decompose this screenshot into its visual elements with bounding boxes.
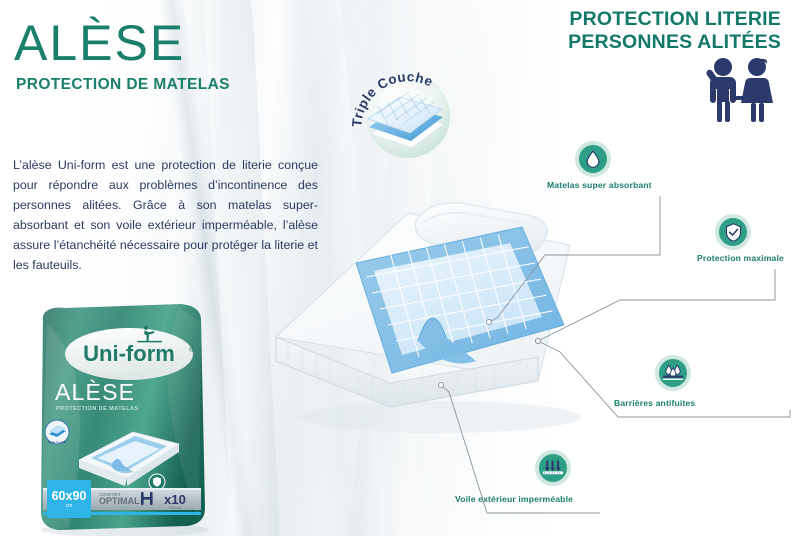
package-comfort: OPTIMAL bbox=[99, 496, 140, 506]
headline-block: PROTECTION LITERIE PERSONNES ALITÉES bbox=[568, 8, 781, 54]
triple-couche-badge: Triple Couche bbox=[352, 64, 464, 164]
headline-line-1: PROTECTION LITERIE bbox=[568, 8, 781, 31]
package-count-unit: Pièces bbox=[169, 505, 181, 510]
package-trademark: ® bbox=[189, 346, 195, 354]
callout-label-barrieres-antifuites: Barrières antifuites bbox=[614, 398, 695, 408]
package-badge-2: Protection maximale bbox=[114, 470, 147, 474]
droplet-barrier-icon bbox=[655, 355, 691, 391]
elderly-couple-icon bbox=[695, 56, 777, 122]
package-size-unit: cm bbox=[66, 503, 73, 509]
callout-label-matelas-super-absorbant: Matelas super absorbant bbox=[547, 180, 652, 190]
headline-line-2: PERSONNES ALITÉES bbox=[568, 31, 781, 54]
shield-check-icon bbox=[715, 214, 751, 250]
package-badge-1: Triple Couche bbox=[48, 440, 67, 444]
callout-label-protection-maximale: Protection maximale bbox=[697, 253, 784, 263]
callout-label-voile-exterieur-impermeable: Voile extérieur imperméable bbox=[455, 494, 573, 504]
poster-canvas: ALÈSE PROTECTION DE MATELAS PROTECTION L… bbox=[0, 0, 799, 536]
page-subtitle: PROTECTION DE MATELAS bbox=[16, 76, 230, 94]
package-product-name: ALÈSE bbox=[55, 379, 135, 405]
water-drop-icon bbox=[575, 141, 611, 177]
product-package: Uni-form ® ALÈSE PROTECTION DE MATELAS T… bbox=[29, 302, 215, 536]
mattress-with-underpad-illustration bbox=[270, 185, 600, 445]
page-title: ALÈSE bbox=[14, 18, 185, 68]
package-size: 60x90 bbox=[52, 489, 87, 503]
package-brand: Uni-form bbox=[83, 341, 175, 366]
droplet-repel-icon bbox=[535, 450, 571, 486]
package-product-sub: PROTECTION DE MATELAS bbox=[56, 406, 139, 412]
